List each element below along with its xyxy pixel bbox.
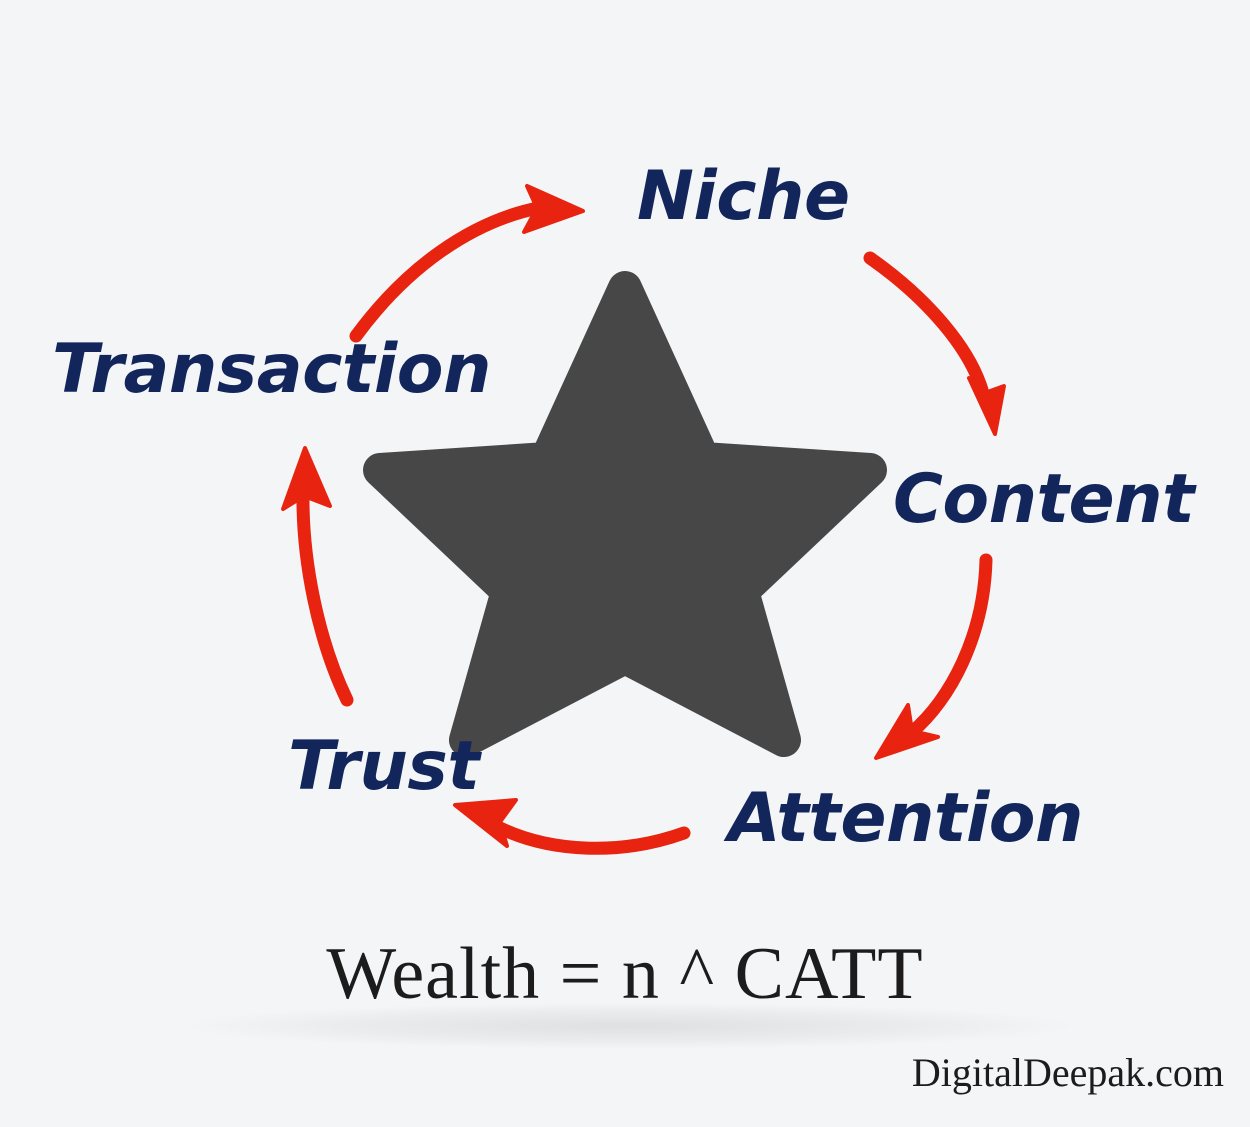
formula-text: Wealth = n ^ CATT [0, 937, 1250, 1011]
node-label-content: Content [893, 466, 1194, 534]
arrow-content-to-attention [876, 560, 986, 758]
node-label-trust: Trust [288, 733, 479, 801]
diagram-canvas: Niche Content Attention Trust Transactio… [0, 0, 1250, 1127]
node-label-niche: Niche [637, 163, 850, 231]
node-label-transaction: Transaction [52, 336, 491, 404]
arrow-transaction-to-niche [356, 186, 583, 336]
arrow-niche-to-content [870, 258, 1004, 434]
node-label-attention: Attention [728, 785, 1083, 853]
arrow-attention-to-trust [455, 800, 684, 848]
arrow-trust-to-transaction [283, 448, 347, 700]
brand-watermark: DigitalDeepak.com [912, 1053, 1224, 1093]
